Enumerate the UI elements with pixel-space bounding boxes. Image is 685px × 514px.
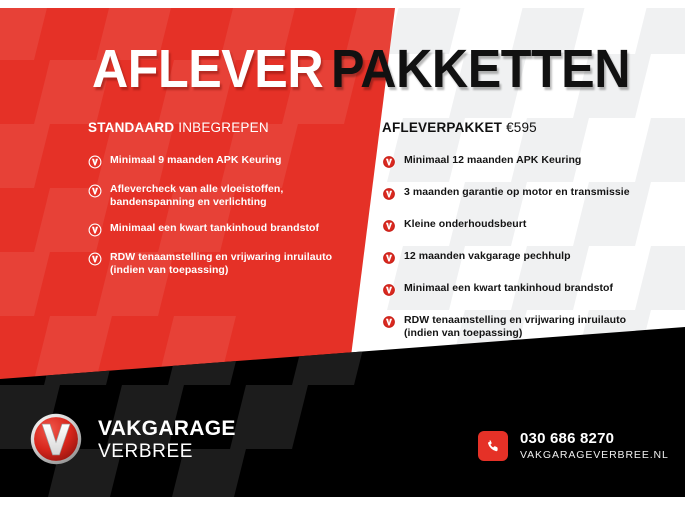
website-url[interactable]: VAKGARAGEVERBREE.NL: [520, 450, 669, 461]
list-item: Kleine onderhoudsbeurt: [382, 218, 647, 233]
list-item: 12 maanden vakgarage pechhulp: [382, 250, 647, 265]
check-v-circle-icon: [88, 184, 102, 198]
heading-strong: STANDAARD: [88, 120, 174, 135]
bottom-white-strip: [0, 497, 685, 514]
list-item: 3 maanden garantie op motor en transmiss…: [382, 186, 647, 201]
check-v-circle-icon: [88, 252, 102, 266]
check-v-circle-icon: [382, 315, 396, 329]
phone-icon[interactable]: [478, 431, 508, 461]
list-item-text: Kleine onderhoudsbeurt: [404, 218, 526, 231]
check-v-circle-icon: [88, 223, 102, 237]
list-item-text: 12 maanden vakgarage pechhulp: [404, 250, 571, 263]
headline-word-pakketten: PAKKETTEN: [331, 42, 630, 96]
vakgarage-v-badge-icon: [28, 411, 84, 467]
headline-word-aflever: AFLEVER: [92, 42, 323, 96]
brand-wordmark: VAKGARAGE VERBREE: [98, 418, 236, 461]
list-item: RDW tenaamstelling en vrijwaring inruila…: [88, 251, 333, 276]
column-standaard-heading: STANDAARD INBEGREPEN: [88, 120, 333, 136]
contact-block[interactable]: 030 686 8270 VAKGARAGEVERBREE.NL: [478, 431, 669, 461]
top-white-strip: [0, 0, 685, 8]
headline: AFLEVER PAKKETTEN: [0, 42, 685, 104]
brand-line-1: VAKGARAGE: [98, 418, 236, 439]
check-v-circle-icon: [382, 251, 396, 265]
list-item-text: Minimaal een kwart tankinhoud brandstof: [404, 282, 613, 295]
phone-number[interactable]: 030 686 8270: [520, 431, 669, 446]
list-item: Minimaal 9 maanden APK Keuring: [88, 154, 333, 169]
heading-strong: AFLEVERPAKKET: [382, 120, 502, 135]
check-v-circle-icon: [382, 283, 396, 297]
brand-logo: VAKGARAGE VERBREE: [28, 411, 236, 467]
column-afleverpakket: AFLEVERPAKKET €595 Minimaal 12 maanden A…: [382, 120, 647, 356]
check-v-circle-icon: [382, 219, 396, 233]
list-item-text: Aflevercheck van alle vloeistoffen, band…: [110, 183, 333, 208]
list-item-text: Minimaal 12 maanden APK Keuring: [404, 154, 581, 167]
list-item: Minimaal een kwart tankinhoud brandstof: [382, 282, 647, 297]
list-item-text: Minimaal een kwart tankinhoud brandstof: [110, 222, 319, 235]
list-item-text: Minimaal 9 maanden APK Keuring: [110, 154, 281, 167]
list-item-text: RDW tenaamstelling en vrijwaring inruila…: [404, 314, 647, 339]
list-item: Minimaal een kwart tankinhoud brandstof: [88, 222, 333, 237]
heading-light: INBEGREPEN: [178, 120, 269, 135]
list-item-text: RDW tenaamstelling en vrijwaring inruila…: [110, 251, 333, 276]
brand-line-2: VERBREE: [98, 442, 236, 461]
poster-canvas: AFLEVER PAKKETTEN STANDAARD INBEGREPEN M…: [0, 0, 685, 514]
check-v-circle-icon: [88, 155, 102, 169]
column-standaard: STANDAARD INBEGREPEN Minimaal 9 maanden …: [88, 120, 333, 290]
check-v-circle-icon: [382, 155, 396, 169]
check-v-circle-icon: [382, 187, 396, 201]
heading-price: €595: [506, 120, 537, 135]
list-item: Aflevercheck van alle vloeistoffen, band…: [88, 183, 333, 208]
list-item: RDW tenaamstelling en vrijwaring inruila…: [382, 314, 647, 339]
contact-text: 030 686 8270 VAKGARAGEVERBREE.NL: [520, 431, 669, 461]
column-afleverpakket-heading: AFLEVERPAKKET €595: [382, 120, 647, 136]
list-item-text: 3 maanden garantie op motor en transmiss…: [404, 186, 630, 199]
list-item: Minimaal 12 maanden APK Keuring: [382, 154, 647, 169]
